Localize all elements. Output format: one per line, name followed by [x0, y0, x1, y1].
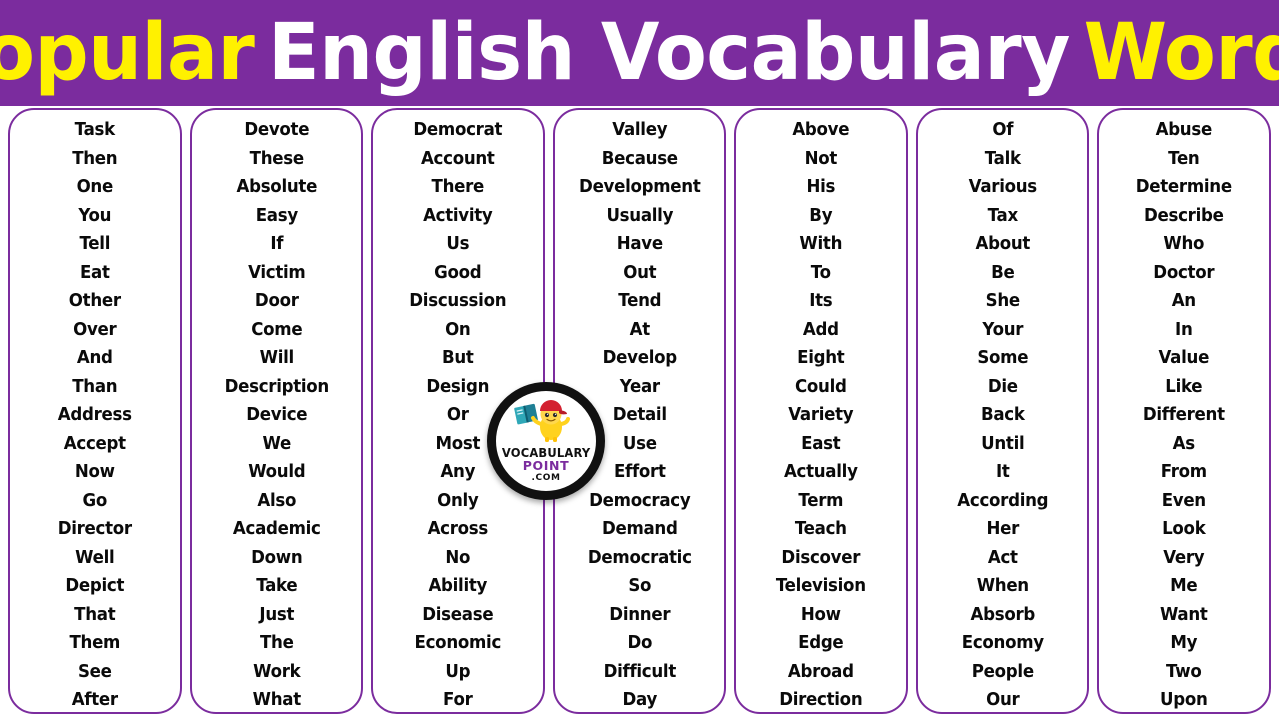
word-item: Term: [742, 487, 899, 516]
word-item: Than: [16, 373, 173, 402]
word-item: Because: [561, 145, 718, 174]
word-item: Economic: [379, 629, 536, 658]
word-item: And: [16, 344, 173, 373]
word-item: Discover: [742, 544, 899, 573]
word-item: Dinner: [561, 601, 718, 630]
word-item: It: [924, 458, 1081, 487]
word-item: Well: [16, 544, 173, 573]
word-item: Eight: [742, 344, 899, 373]
word-item: Depict: [16, 572, 173, 601]
word-item: Our: [924, 686, 1081, 714]
word-item: Economy: [924, 629, 1081, 658]
word-item: At: [561, 316, 718, 345]
word-item: Victim: [198, 259, 355, 288]
word-item: She: [924, 287, 1081, 316]
word-column-7: Abuse Ten Determine Describe Who Doctor …: [1097, 108, 1271, 714]
word-item: Take: [198, 572, 355, 601]
word-item: Democrat: [379, 116, 536, 145]
word-item: Even: [1106, 487, 1263, 516]
logo-line-dotcom: .COM: [531, 473, 560, 484]
word-item: Ten: [1106, 145, 1263, 174]
word-item: Other: [16, 287, 173, 316]
word-item: Various: [924, 173, 1081, 202]
word-item: Until: [924, 430, 1081, 459]
word-item: Different: [1106, 401, 1263, 430]
word-item: Account: [379, 145, 536, 174]
word-column-2: Devote These Absolute Easy If Victim Doo…: [190, 108, 364, 714]
word-item: Want: [1106, 601, 1263, 630]
word-item: Them: [16, 629, 173, 658]
word-item: But: [379, 344, 536, 373]
title-part-words: Words: [1084, 8, 1279, 98]
word-item: One: [16, 173, 173, 202]
word-column-5: Above Not His By With To Its Add Eight C…: [734, 108, 908, 714]
logo-line-point: POINT: [523, 459, 569, 473]
word-item: The: [198, 629, 355, 658]
word-item: Absolute: [198, 173, 355, 202]
word-item: Abroad: [742, 658, 899, 687]
word-item: According: [924, 487, 1081, 516]
word-item: Tell: [16, 230, 173, 259]
word-item: These: [198, 145, 355, 174]
word-item: My: [1106, 629, 1263, 658]
word-item: Task: [16, 116, 173, 145]
word-item: Come: [198, 316, 355, 345]
word-item: Above: [742, 116, 899, 145]
word-item: About: [924, 230, 1081, 259]
word-item: Work: [198, 658, 355, 687]
word-item: Could: [742, 373, 899, 402]
word-item: Over: [16, 316, 173, 345]
word-item: Be: [924, 259, 1081, 288]
word-item: Upon: [1106, 686, 1263, 714]
word-item: Its: [742, 287, 899, 316]
word-item: Out: [561, 259, 718, 288]
word-item: Accept: [16, 430, 173, 459]
word-item: Will: [198, 344, 355, 373]
word-item: Her: [924, 515, 1081, 544]
word-item: Now: [16, 458, 173, 487]
word-item: Edge: [742, 629, 899, 658]
word-item: Absorb: [924, 601, 1081, 630]
word-columns-grid: Task Then One You Tell Eat Other Over An…: [0, 108, 1279, 714]
word-item: Add: [742, 316, 899, 345]
word-item: Back: [924, 401, 1081, 430]
word-item: His: [742, 173, 899, 202]
word-item: Describe: [1106, 202, 1263, 231]
word-item: Easy: [198, 202, 355, 231]
word-item: With: [742, 230, 899, 259]
word-item: Go: [16, 487, 173, 516]
vocabulary-point-logo: VOCABULARY POINT .COM: [487, 382, 605, 500]
word-item: Description: [198, 373, 355, 402]
word-item: Ability: [379, 572, 536, 601]
word-item: Development: [561, 173, 718, 202]
word-item: Value: [1106, 344, 1263, 373]
word-item: An: [1106, 287, 1263, 316]
word-item: Like: [1106, 373, 1263, 402]
word-item: On: [379, 316, 536, 345]
word-item: Eat: [16, 259, 173, 288]
word-item: Then: [16, 145, 173, 174]
word-item: Very: [1106, 544, 1263, 573]
word-item: Address: [16, 401, 173, 430]
word-column-1: Task Then One You Tell Eat Other Over An…: [8, 108, 182, 714]
poster-header: PopularEnglish VocabularyWords: [0, 0, 1279, 106]
word-item: Determine: [1106, 173, 1263, 202]
word-item: Not: [742, 145, 899, 174]
title-part-popular: Popular: [0, 8, 255, 98]
word-item: See: [16, 658, 173, 687]
page-title: PopularEnglish VocabularyWords: [0, 14, 1279, 92]
word-item: Me: [1106, 572, 1263, 601]
word-item: Us: [379, 230, 536, 259]
word-item: After: [16, 686, 173, 714]
mascot-with-book-icon: [496, 398, 596, 444]
word-item: Teach: [742, 515, 899, 544]
word-item: Activity: [379, 202, 536, 231]
word-item: Democratic: [561, 544, 718, 573]
word-item: Device: [198, 401, 355, 430]
word-item: Who: [1106, 230, 1263, 259]
title-part-english-vocabulary: English Vocabulary: [268, 8, 1070, 98]
word-item: As: [1106, 430, 1263, 459]
word-item: Abuse: [1106, 116, 1263, 145]
logo-line-vocabulary: VOCABULARY: [502, 446, 591, 459]
word-item: Actually: [742, 458, 899, 487]
vocabulary-poster: PopularEnglish VocabularyWords Task Then…: [0, 0, 1279, 720]
word-item: Television: [742, 572, 899, 601]
word-item: When: [924, 572, 1081, 601]
word-item: We: [198, 430, 355, 459]
word-item: You: [16, 202, 173, 231]
word-item: If: [198, 230, 355, 259]
word-column-6: Of Talk Various Tax About Be She Your So…: [916, 108, 1090, 714]
word-item: Die: [924, 373, 1081, 402]
word-item: Two: [1106, 658, 1263, 687]
word-item: Door: [198, 287, 355, 316]
word-item: Difficult: [561, 658, 718, 687]
word-item: Good: [379, 259, 536, 288]
word-item: Day: [561, 686, 718, 714]
word-item: Tend: [561, 287, 718, 316]
word-item: Have: [561, 230, 718, 259]
word-item: Devote: [198, 116, 355, 145]
word-item: In: [1106, 316, 1263, 345]
word-item: Across: [379, 515, 536, 544]
word-item: That: [16, 601, 173, 630]
word-item: For: [379, 686, 536, 714]
word-item: Just: [198, 601, 355, 630]
word-item: No: [379, 544, 536, 573]
word-item: From: [1106, 458, 1263, 487]
word-item: To: [742, 259, 899, 288]
word-item: East: [742, 430, 899, 459]
word-item: Direction: [742, 686, 899, 714]
word-item: There: [379, 173, 536, 202]
word-item: Look: [1106, 515, 1263, 544]
word-item: Disease: [379, 601, 536, 630]
word-item: Up: [379, 658, 536, 687]
word-item: Director: [16, 515, 173, 544]
word-item: Talk: [924, 145, 1081, 174]
word-item: By: [742, 202, 899, 231]
word-item: How: [742, 601, 899, 630]
word-item: Develop: [561, 344, 718, 373]
word-item: Discussion: [379, 287, 536, 316]
word-item: Academic: [198, 515, 355, 544]
word-item: Variety: [742, 401, 899, 430]
word-item: Act: [924, 544, 1081, 573]
word-item: Would: [198, 458, 355, 487]
word-item: Usually: [561, 202, 718, 231]
word-item: Your: [924, 316, 1081, 345]
word-item: Also: [198, 487, 355, 516]
word-item: Doctor: [1106, 259, 1263, 288]
word-item: People: [924, 658, 1081, 687]
word-item: So: [561, 572, 718, 601]
word-item: Tax: [924, 202, 1081, 231]
word-item: Do: [561, 629, 718, 658]
word-item: Of: [924, 116, 1081, 145]
word-item: What: [198, 686, 355, 714]
word-item: Some: [924, 344, 1081, 373]
word-item: Down: [198, 544, 355, 573]
word-item: Demand: [561, 515, 718, 544]
word-item: Valley: [561, 116, 718, 145]
